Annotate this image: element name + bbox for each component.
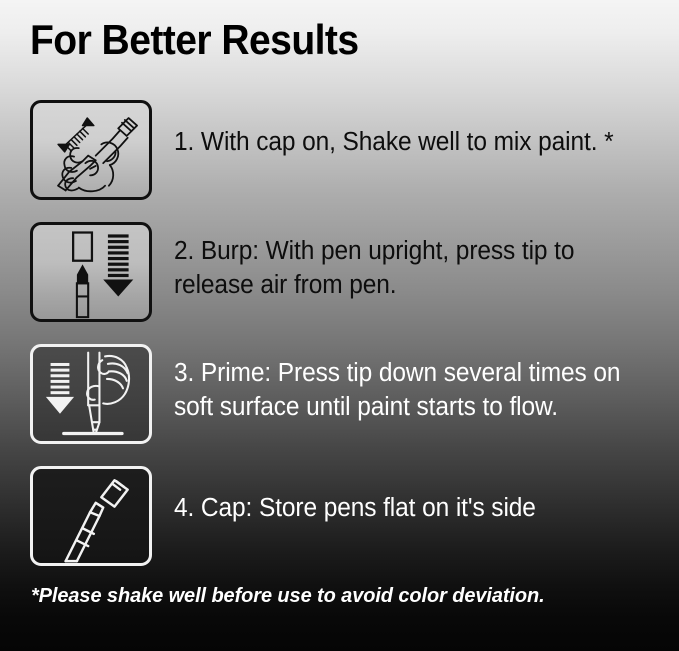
step-4-text: 4. Cap: Store pens flat on it's side bbox=[174, 466, 641, 526]
cap-pen-icon bbox=[30, 466, 152, 566]
step-1: 1. With cap on, Shake well to mix paint.… bbox=[30, 100, 660, 200]
burp-pen-icon bbox=[30, 222, 152, 322]
step-1-text: 1. With cap on, Shake well to mix paint.… bbox=[174, 100, 641, 160]
footnote-text: *Please shake well before use to avoid c… bbox=[31, 585, 545, 608]
step-3-text: 3. Prime: Press tip down several times o… bbox=[174, 344, 641, 425]
step-2: 2. Burp: With pen upright, press tip to … bbox=[30, 222, 660, 322]
page-title: For Better Results bbox=[30, 18, 359, 62]
prime-pen-icon bbox=[30, 344, 152, 444]
instruction-poster: For Better Results bbox=[0, 0, 679, 651]
step-2-text: 2. Burp: With pen upright, press tip to … bbox=[174, 222, 641, 303]
shake-pen-icon bbox=[30, 100, 152, 200]
step-3: 3. Prime: Press tip down several times o… bbox=[30, 344, 660, 444]
step-4: 4. Cap: Store pens flat on it's side bbox=[30, 466, 660, 566]
